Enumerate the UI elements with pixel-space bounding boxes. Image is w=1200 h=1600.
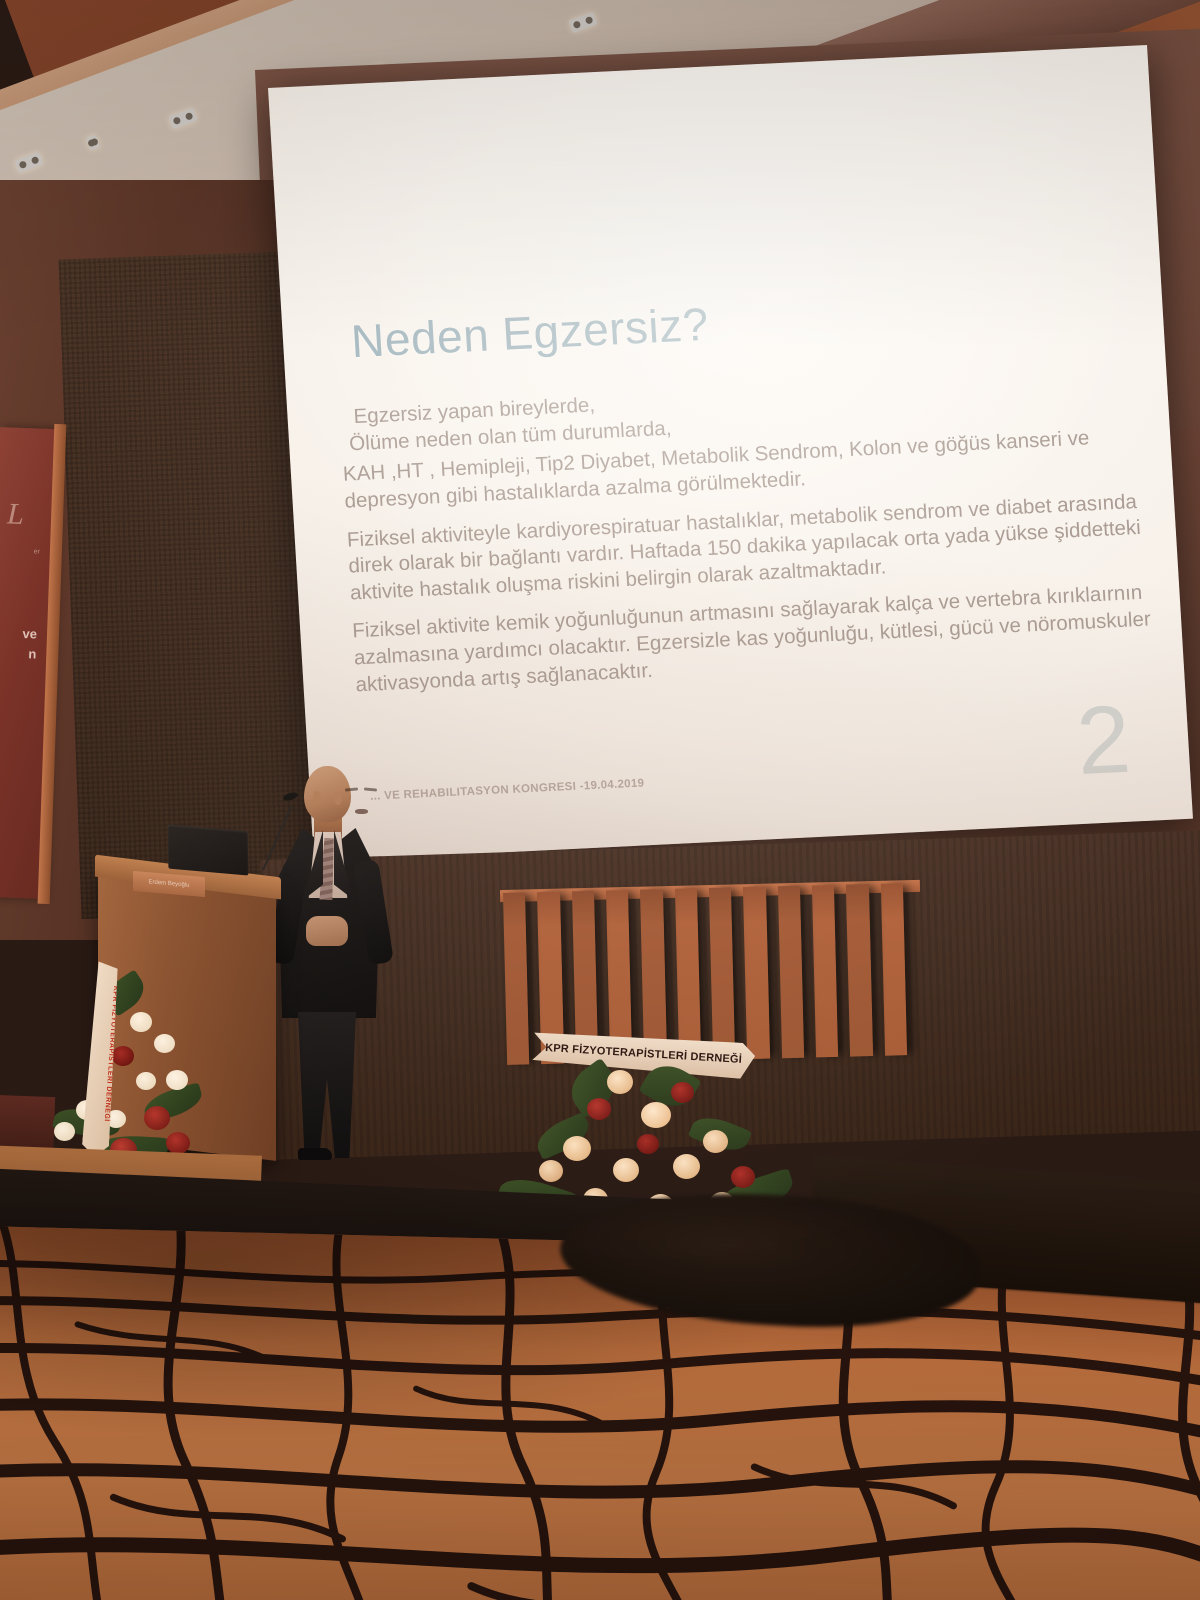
bloom-cream [703, 1130, 728, 1153]
bloom-cream [607, 1070, 633, 1094]
bloom-cream [613, 1158, 639, 1182]
wood-slat [778, 886, 805, 1058]
slide-footer: ... VE REHABILITASYON KONGRESI -19.04.20… [370, 777, 645, 802]
bloom-white [136, 1072, 156, 1090]
bloom-white [166, 1070, 188, 1090]
speaker-presenter [270, 766, 390, 1166]
podium-nameplate-text: Erdem Beyoğlu [148, 879, 189, 889]
rollup-small-text: er [0, 547, 42, 556]
speaker-brow-left [345, 787, 358, 791]
speaker-brow-right [364, 787, 377, 791]
speaker-ear-left [334, 791, 342, 805]
wood-slat [743, 887, 770, 1059]
speaker-ear-right [313, 791, 321, 805]
bloom-red [671, 1082, 694, 1103]
bloom-red [587, 1098, 611, 1120]
bloom-red [166, 1132, 190, 1154]
speaker-legs [294, 1012, 360, 1158]
speaker-hands [306, 916, 348, 946]
bloom-red [637, 1134, 659, 1154]
bloom-red [112, 1046, 134, 1066]
conference-hall-photo: Neden Egzersiz? Egzersiz yapan bireylerd… [0, 0, 1200, 1600]
slide-page-number: 2 [1074, 692, 1133, 790]
wood-slat [640, 889, 667, 1061]
slide-title: Neden Egzersiz? [350, 297, 711, 368]
bloom-cream [539, 1160, 563, 1182]
bloom-white [130, 1012, 152, 1032]
rollup-large-text: ve n [0, 623, 39, 664]
projection-screen: Neden Egzersiz? Egzersiz yapan bireylerd… [268, 45, 1193, 862]
speaker-shoe [298, 1148, 332, 1160]
speaker-head [304, 766, 351, 822]
speaker-mouth [355, 809, 368, 814]
wood-slat [709, 887, 736, 1059]
bloom-cream [673, 1154, 700, 1179]
floral-arrangement-left [48, 960, 203, 1165]
wood-slat [675, 888, 702, 1060]
slide-body: Egzersiz yapan bireylerde, Ölüme neden o… [339, 366, 1156, 699]
bloom-white [154, 1034, 175, 1053]
bloom-white [54, 1122, 75, 1141]
wood-slat [812, 885, 839, 1057]
confidence-monitor[interactable] [168, 824, 249, 875]
bloom-cream [563, 1136, 591, 1161]
rollup-monogram: L [7, 497, 25, 532]
bloom-red [731, 1166, 755, 1188]
wood-slat [880, 883, 907, 1055]
wood-slat [846, 884, 873, 1056]
wood-slat [503, 892, 530, 1064]
bloom-red [144, 1106, 170, 1130]
bloom-cream [641, 1102, 671, 1128]
slide-surface: Neden Egzersiz? Egzersiz yapan bireylerd… [268, 45, 1193, 862]
